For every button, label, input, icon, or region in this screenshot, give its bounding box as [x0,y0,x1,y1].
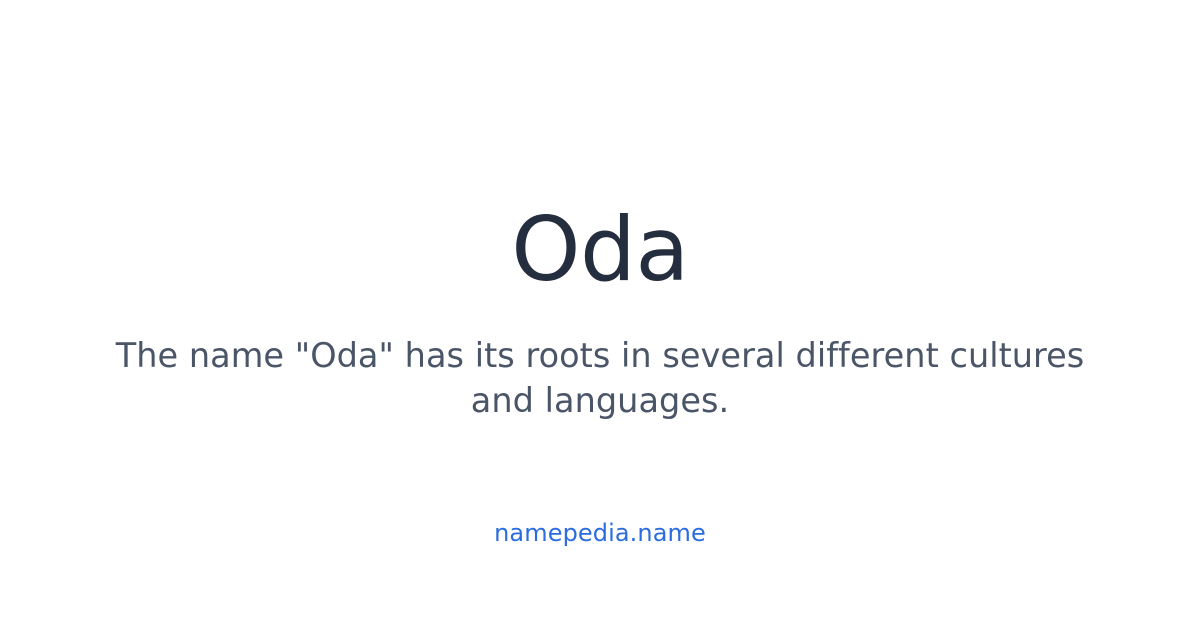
site-link[interactable]: namepedia.name [494,519,706,547]
name-info-card: Oda The name "Oda" has its roots in seve… [0,0,1200,630]
name-description: The name "Oda" has its roots in several … [86,333,1114,423]
subtitle-block: The name "Oda" has its roots in several … [86,333,1114,423]
title-block: Oda [0,205,1200,295]
page-title: Oda [0,205,1200,295]
footer-block: namepedia.name [0,516,1200,550]
